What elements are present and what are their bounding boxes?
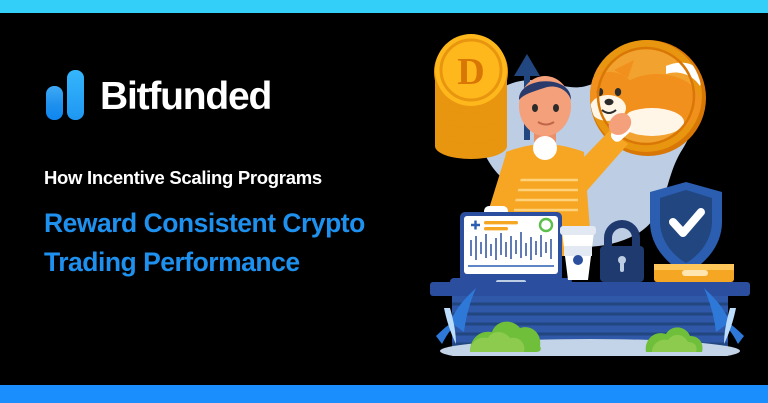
brand-wordmark: Bitfunded bbox=[100, 77, 271, 116]
headline-line-2: Trading Performance bbox=[44, 243, 444, 282]
headline-line-1: Reward Consistent Crypto bbox=[44, 204, 444, 243]
laptop bbox=[450, 212, 572, 287]
logo-bar-tall bbox=[67, 70, 84, 120]
shield-check-icon bbox=[650, 182, 722, 274]
crypto-trader-illustration: D bbox=[414, 26, 768, 356]
banner-root: Bitfunded How Incentive Scaling Programs… bbox=[0, 0, 768, 403]
bitfunded-bars-logo-icon bbox=[44, 70, 88, 122]
top-accent-bar bbox=[0, 0, 768, 13]
dogecoin-letter: D bbox=[457, 51, 484, 93]
logo-bar-short bbox=[46, 86, 63, 120]
coffee-cup bbox=[560, 226, 596, 280]
brand-logo[interactable]: Bitfunded bbox=[44, 68, 444, 124]
dogecoin-stack: D bbox=[434, 34, 508, 159]
book bbox=[654, 264, 734, 282]
bottom-accent-bar bbox=[0, 385, 768, 403]
eyebrow-text: How Incentive Scaling Programs bbox=[44, 166, 444, 189]
headline: Reward Consistent Crypto Trading Perform… bbox=[44, 204, 444, 282]
text-column: Bitfunded How Incentive Scaling Programs… bbox=[44, 68, 444, 283]
